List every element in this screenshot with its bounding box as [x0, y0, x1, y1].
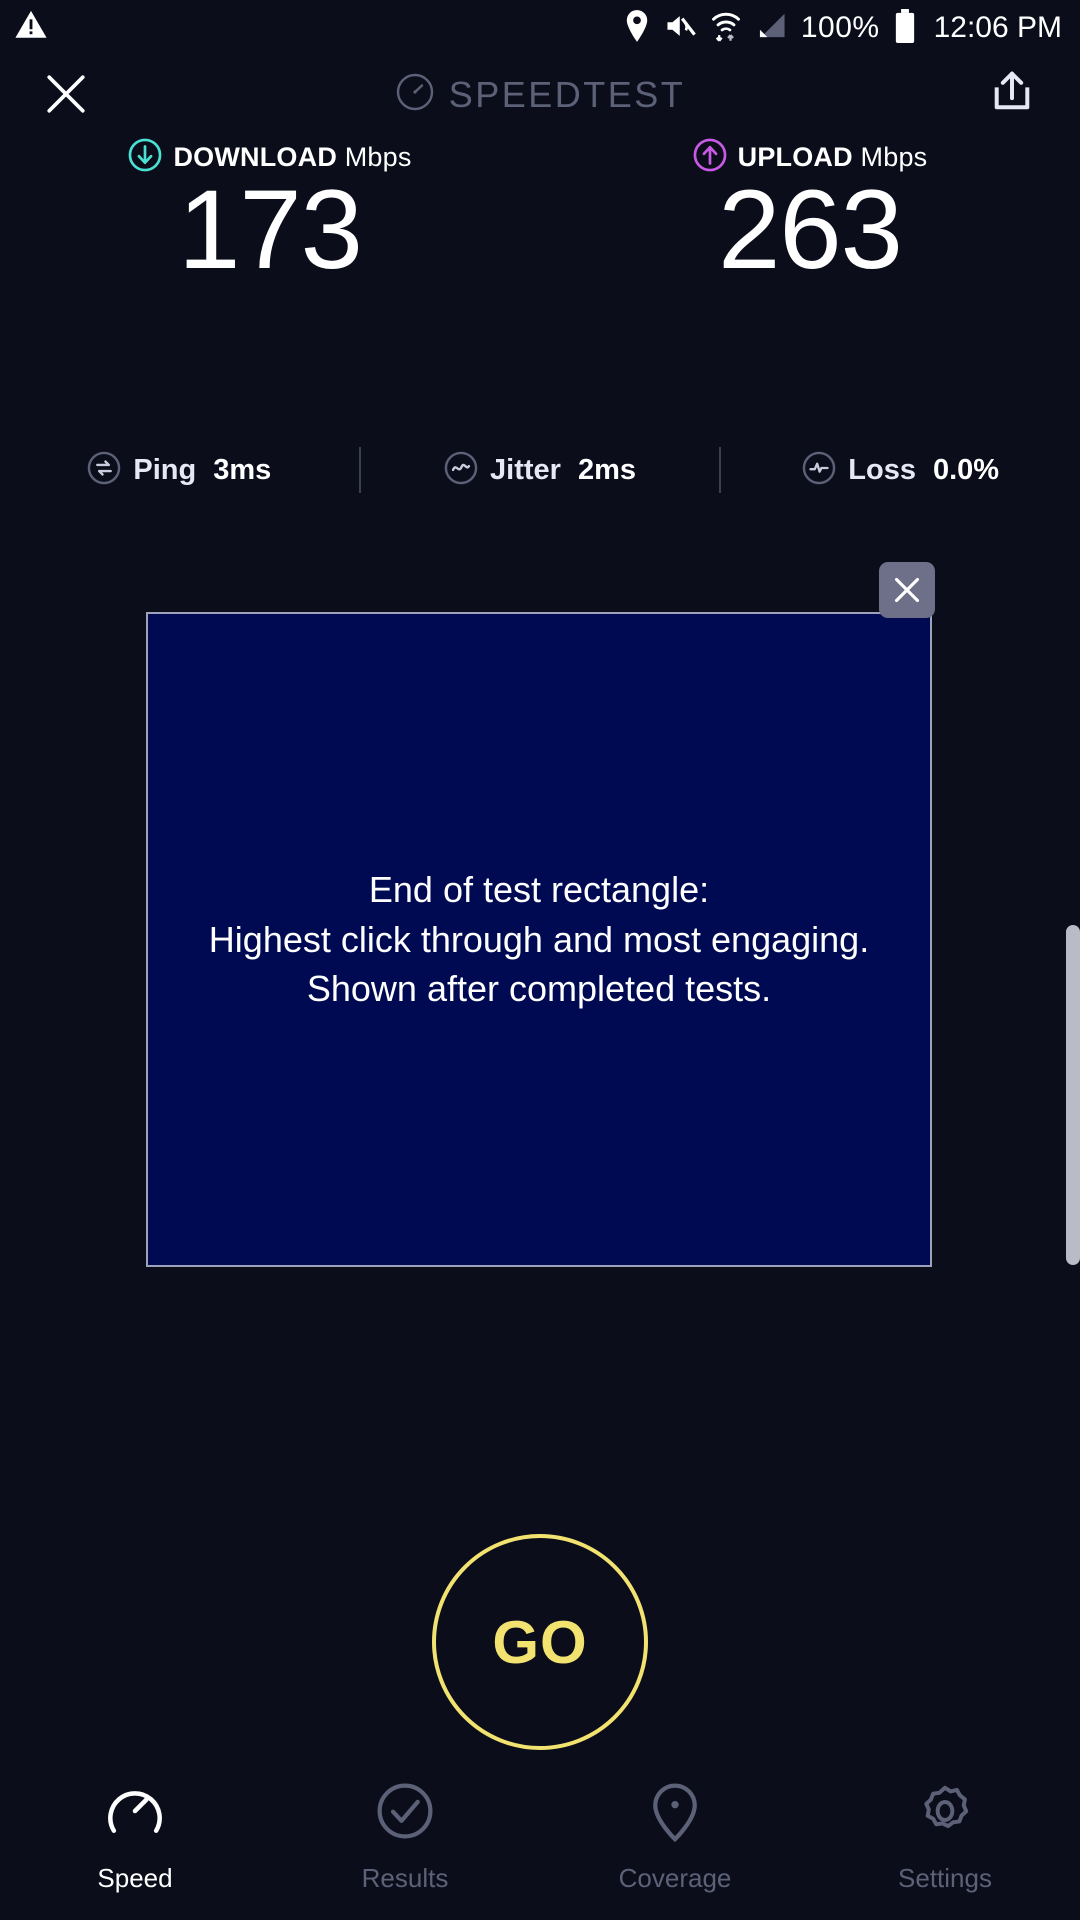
- scrollbar-thumb[interactable]: [1066, 925, 1080, 1265]
- loss-label: Loss: [848, 454, 916, 487]
- results-summary: DOWNLOAD Mbps 173 UPLOAD Mbps 263: [0, 138, 1080, 287]
- ping-jitter-loss-row: Ping 3ms Jitter 2ms: [0, 442, 1080, 498]
- nav-label-settings: Settings: [898, 1863, 992, 1894]
- brand-title: SPEEDTEST: [449, 74, 686, 116]
- mute-icon: [665, 11, 697, 46]
- status-bar: 100% 12:06 PM: [0, 0, 1080, 56]
- battery-full-icon: [894, 9, 916, 48]
- ping-value: 3ms: [213, 454, 271, 487]
- speedometer-icon: [395, 72, 435, 117]
- jitter-value: 2ms: [578, 454, 636, 487]
- ping-icon: [87, 451, 121, 490]
- go-button-label: GO: [492, 1608, 587, 1677]
- download-result: DOWNLOAD Mbps 173: [0, 138, 540, 287]
- nav-label-speed: Speed: [97, 1863, 172, 1894]
- speedtest-app-screen: 100% 12:06 PM S: [0, 0, 1080, 1920]
- brand: SPEEDTEST: [0, 72, 1080, 117]
- bottom-navigation: Speed Results Coverage: [0, 1768, 1080, 1920]
- download-value: 173: [178, 173, 362, 287]
- upload-value: 263: [718, 173, 902, 287]
- nav-label-coverage: Coverage: [619, 1863, 732, 1894]
- ping-label: Ping: [133, 454, 196, 487]
- nav-item-results[interactable]: Results: [270, 1780, 540, 1894]
- nav-item-speed[interactable]: Speed: [0, 1780, 270, 1894]
- check-circle-icon: [374, 1780, 436, 1847]
- battery-percent: 100%: [801, 11, 880, 45]
- wifi-icon: [711, 9, 741, 48]
- location-pin-icon: [623, 9, 651, 48]
- loss-icon: [802, 451, 836, 490]
- status-bar-clock: 12:06 PM: [934, 11, 1062, 45]
- ping-metric: Ping 3ms: [0, 451, 359, 490]
- nav-item-coverage[interactable]: Coverage: [540, 1780, 810, 1894]
- cell-signal-icon: [755, 11, 787, 46]
- gear-icon: [914, 1780, 976, 1847]
- loss-metric: Loss 0.0%: [721, 451, 1080, 490]
- jitter-metric: Jitter 2ms: [361, 451, 720, 490]
- jitter-label: Jitter: [490, 454, 561, 487]
- speedometer-icon: [104, 1780, 166, 1847]
- ad-close-button[interactable]: [879, 562, 935, 618]
- nav-label-results: Results: [362, 1863, 449, 1894]
- download-arrow-icon: [128, 138, 162, 177]
- loss-value: 0.0%: [933, 454, 999, 487]
- ad-text: End of test rectangle: Highest click thr…: [197, 865, 881, 1014]
- app-header: SPEEDTEST: [0, 56, 1080, 132]
- warning-triangle-icon: [14, 8, 48, 47]
- upload-result: UPLOAD Mbps 263: [540, 138, 1080, 287]
- location-pin-icon: [644, 1780, 706, 1847]
- nav-item-settings[interactable]: Settings: [810, 1780, 1080, 1894]
- download-upload-row: DOWNLOAD Mbps 173 UPLOAD Mbps 263: [0, 138, 1080, 287]
- status-bar-icons: 100% 12:06 PM: [623, 0, 1062, 56]
- share-button[interactable]: [986, 66, 1042, 122]
- go-button[interactable]: GO: [432, 1534, 648, 1750]
- advertisement-banner[interactable]: End of test rectangle: Highest click thr…: [146, 612, 932, 1267]
- jitter-icon: [444, 451, 478, 490]
